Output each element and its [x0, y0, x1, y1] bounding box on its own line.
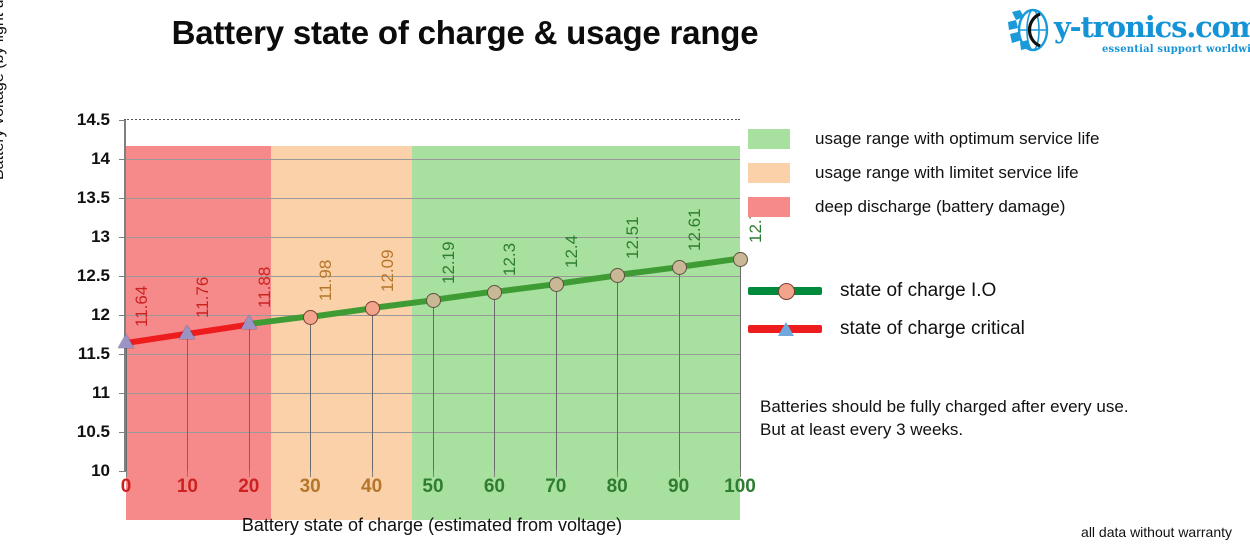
dropline: [556, 284, 557, 471]
dropline: [617, 275, 618, 471]
y-tick-label: 14: [48, 150, 110, 167]
data-point-marker: [733, 252, 748, 267]
y-tick-mark: [119, 354, 126, 355]
y-tick-label: 10: [48, 462, 110, 479]
brand-tagline: essential support worldwide: [1102, 44, 1250, 55]
x-tick-label: 50: [403, 477, 463, 496]
y-tick-label: 12.5: [48, 267, 110, 284]
data-point-marker: [487, 285, 502, 300]
band-legend-swatch: [748, 197, 790, 217]
x-tick-label: 20: [219, 477, 279, 496]
y-tick-mark: [119, 276, 126, 277]
point-value-label: 11.88: [256, 267, 273, 308]
series-legend-key: [748, 320, 822, 338]
x-tick-label: 70: [526, 477, 586, 496]
dropline: [433, 300, 434, 471]
dropline: [372, 308, 373, 471]
y-tick-mark: [119, 237, 126, 238]
band-legend-item-2[interactable]: deep discharge (battery damage): [748, 190, 1168, 224]
band-legend: usage range with optimum service lifeusa…: [748, 122, 1168, 224]
dropline: [126, 343, 127, 471]
y-tick-label: 13: [48, 228, 110, 245]
point-value-label: 12.61: [686, 209, 703, 252]
point-value-label: 12.19: [440, 242, 457, 285]
dropline: [249, 324, 250, 471]
point-value-label: 12.3: [501, 243, 518, 276]
advice-note: Batteries should be fully charged after …: [760, 396, 1230, 442]
usage-band-2: [412, 146, 740, 520]
data-point-marker: [365, 301, 380, 316]
band-legend-swatch: [748, 163, 790, 183]
brand-wordmark: y-tronics.com: [1054, 10, 1250, 44]
gridline-y: [126, 159, 740, 160]
gridline-y: [126, 198, 740, 199]
dropline: [740, 259, 741, 471]
band-legend-item-1[interactable]: usage range with limitet service life: [748, 156, 1168, 190]
usage-band-1: [271, 146, 412, 520]
warranty-note: all data without warranty: [1081, 524, 1232, 540]
y-tick-label: 12: [48, 306, 110, 323]
x-tick-label: 60: [464, 477, 524, 496]
point-value-label: 12.4: [563, 235, 580, 268]
y-tick-mark: [119, 120, 126, 121]
x-tick-label: 40: [342, 477, 402, 496]
x-tick-label: 90: [649, 477, 709, 496]
y-tick-label: 11.5: [48, 345, 110, 362]
plot-area: 11.6411.7611.8811.9812.0912.1912.312.412…: [124, 120, 740, 471]
series-legend-marker: [778, 283, 795, 300]
series-legend-label: state of charge I.O: [840, 280, 996, 302]
x-axis-title: Battery state of charge (estimated from …: [124, 515, 740, 536]
point-value-label: 12.09: [379, 249, 396, 292]
band-legend-item-0[interactable]: usage range with optimum service life: [748, 122, 1168, 156]
data-point-marker: [549, 277, 564, 292]
dropline: [679, 267, 680, 471]
data-point-marker: [179, 325, 195, 339]
x-tick-label: 30: [280, 477, 340, 496]
x-tick-label: 100: [710, 477, 770, 496]
band-legend-label: usage range with optimum service life: [815, 129, 1099, 149]
advice-line-1: Batteries should be fully charged after …: [760, 396, 1230, 419]
x-tick-label: 10: [157, 477, 217, 496]
globe-logo-icon: [1006, 8, 1056, 52]
y-tick-label: 13.5: [48, 189, 110, 206]
series-legend-key: [748, 282, 822, 300]
y-tick-mark: [119, 315, 126, 316]
series-legend-marker: [778, 322, 794, 336]
y-tick-mark: [119, 393, 126, 394]
point-value-label: 11.76: [194, 276, 211, 317]
point-value-label: 11.64: [133, 286, 150, 327]
series-legend-label: state of charge critical: [840, 318, 1025, 340]
band-legend-swatch: [748, 129, 790, 149]
series-legend-item-1[interactable]: state of charge critical: [748, 310, 1168, 348]
gridline-y: [126, 237, 740, 238]
band-legend-label: deep discharge (battery damage): [815, 197, 1065, 217]
gridline-y: [126, 276, 740, 277]
x-tick-label: 80: [587, 477, 647, 496]
point-value-label: 12.51: [624, 217, 641, 260]
data-point-marker: [672, 260, 687, 275]
dropline: [310, 317, 311, 471]
dropline: [187, 334, 188, 471]
y-tick-mark: [119, 432, 126, 433]
brand-logo: y-tronics.com essential support worldwid…: [1006, 8, 1238, 60]
y-tick-mark: [119, 471, 126, 472]
y-tick-label: 10.5: [48, 423, 110, 440]
y-tick-label: 11: [48, 384, 110, 401]
dropline: [494, 292, 495, 471]
y-tick-mark: [119, 198, 126, 199]
page-title: Battery state of charge & usage range: [0, 14, 930, 52]
series-legend-item-0[interactable]: state of charge I.O: [748, 272, 1168, 310]
data-point-marker: [241, 315, 257, 329]
series-legend: state of charge I.Ostate of charge criti…: [748, 272, 1168, 348]
point-value-label: 11.98: [317, 259, 334, 300]
band-legend-label: usage range with limitet service life: [815, 163, 1079, 183]
data-point-marker: [303, 310, 318, 325]
y-tick-mark: [119, 159, 126, 160]
advice-line-2: But at least every 3 weeks.: [760, 419, 1230, 442]
y-tick-label: 14.5: [48, 111, 110, 128]
y-axis-title: Battery voltage (by light usage): [0, 0, 8, 180]
data-point-marker: [118, 334, 134, 348]
